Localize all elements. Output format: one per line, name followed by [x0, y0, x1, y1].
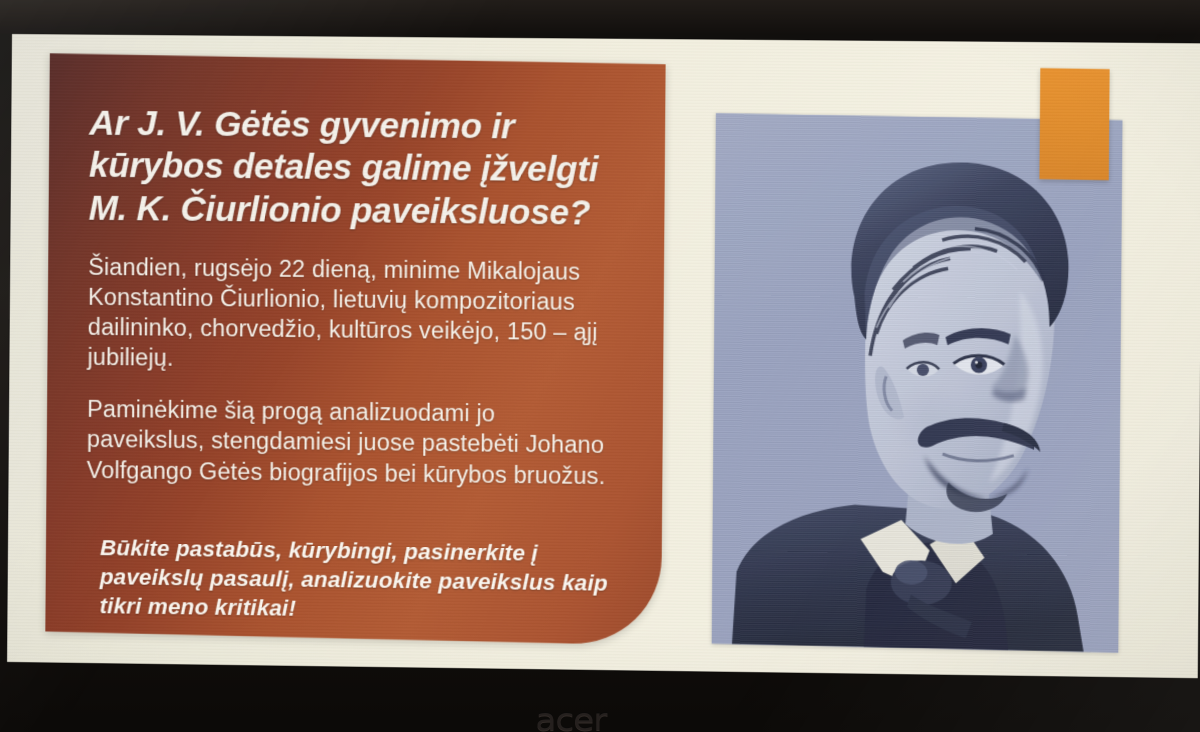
slide-paragraph-2: Paminėkime šią progą analizuodami jo pav…	[87, 394, 617, 491]
acer-brand-logo: acer	[535, 703, 606, 732]
panel-inner: Ar J. V. Gėtės gyvenimo ir kūrybos detal…	[45, 56, 665, 642]
slide-content-panel: Ar J. V. Gėtės gyvenimo ir kūrybos detal…	[45, 53, 665, 645]
bezel-top-sheen	[0, 0, 1200, 34]
portrait-illustration	[712, 113, 1123, 652]
orange-accent-tab	[1039, 68, 1109, 180]
slide-call-to-action: Būkite pastabūs, kūrybingi, pasinerkite …	[99, 533, 615, 628]
portrait-photo	[712, 113, 1123, 652]
screenshot-stage: Ar J. V. Gėtės gyvenimo ir kūrybos detal…	[0, 0, 1200, 732]
slide-title: Ar J. V. Gėtės gyvenimo ir kūrybos detal…	[89, 103, 619, 235]
slide-paragraph-1: Šiandien, rugsėjo 22 dieną, minime Mikal…	[87, 252, 617, 378]
presentation-slide: Ar J. V. Gėtės gyvenimo ir kūrybos detal…	[7, 34, 1200, 678]
